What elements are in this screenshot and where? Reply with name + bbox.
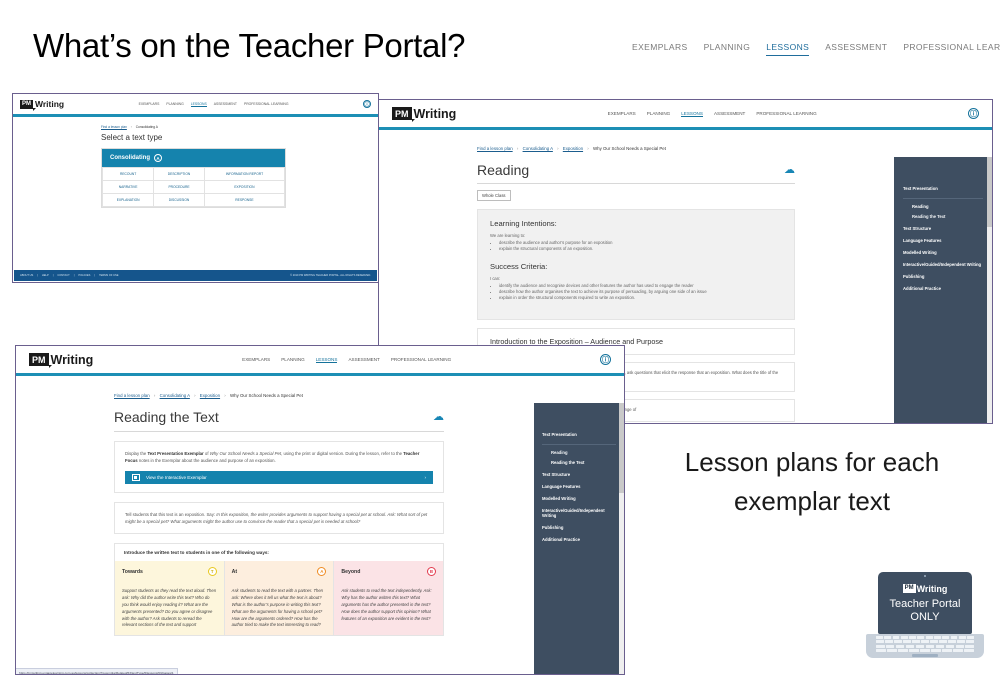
window3-page-title: Reading the Text — [114, 409, 219, 425]
breadcrumb-separator: › — [587, 146, 588, 151]
logo-writing-text: Writing — [35, 99, 64, 109]
slide-top-nav: EXEMPLARS PLANNING LESSONS ASSESSMENT PR… — [632, 42, 1000, 56]
display-exemplar-paragraph: Display the Text Presentation Exemplar o… — [125, 450, 433, 464]
vertical-scrollbar[interactable] — [987, 157, 992, 424]
scrollbar-thumb[interactable] — [619, 403, 624, 493]
column-beyond: Beyond B Ask students to read the text i… — [334, 561, 443, 635]
site-nav: EXEMPLARS PLANNING LESSONS ASSESSMENT PR… — [139, 102, 289, 107]
differentiation-grid: Towards T Support students as they read … — [114, 561, 444, 636]
footer-divider: | — [94, 274, 95, 277]
site-nav-assessment[interactable]: ASSESSMENT — [214, 102, 237, 107]
presentation-icon — [132, 474, 140, 481]
sidebar-item-language-features[interactable]: Language Features — [542, 484, 616, 489]
list-item: explain the structural components of an … — [499, 246, 782, 252]
key-row — [876, 649, 974, 652]
breadcrumb-current: Why Our School Needs a Special Pet — [593, 146, 666, 151]
user-account-icon[interactable]: ⓘ — [968, 108, 979, 119]
learning-intentions-heading: Learning Intentions: — [490, 219, 782, 228]
learning-intentions-list: describe the audience and author’s purpo… — [490, 240, 782, 253]
site-nav-professional-learning[interactable]: PROFESSIONAL LEARNING — [756, 111, 816, 117]
sidebar-item-text-presentation[interactable]: Text Presentation — [542, 432, 616, 437]
pm-writing-logo: PM Writing — [20, 99, 64, 109]
site-nav-planning[interactable]: PLANNING — [281, 357, 305, 363]
footer-link-help[interactable]: HELP — [42, 274, 49, 277]
column-body-at: Ask students to read the text with a par… — [225, 582, 334, 635]
breadcrumb-exposition[interactable]: Exposition — [200, 393, 220, 398]
sidebar-item-additional-practice[interactable]: Additional Practice — [542, 537, 616, 542]
logo-writing-text: Writing — [917, 584, 948, 594]
text-type-level-label: Consolidating — [110, 155, 150, 161]
column-body-text: Ask students to read the text with a par… — [232, 588, 323, 627]
breadcrumb-separator: › — [557, 146, 558, 151]
column-title-beyond: Beyond — [341, 569, 360, 575]
footer-divider: | — [37, 274, 38, 277]
slide-nav-professional-learning[interactable]: PROFESSIONAL LEARNING — [903, 42, 1000, 55]
para-seg: notes in the Exemplar about the audience… — [138, 458, 276, 463]
footer-link-contact[interactable]: CONTACT — [57, 274, 69, 277]
level-badge-a: A — [154, 154, 162, 162]
page-title: What’s on the Teacher Portal? — [33, 27, 465, 65]
sidebar-divider — [903, 198, 983, 199]
para-bold-text-presentation-exemplar: Text Presentation Exemplar — [147, 451, 203, 456]
sidebar-item-text-presentation[interactable]: Text Presentation — [903, 186, 983, 191]
lesson-sidebar: Text Presentation Reading Reading the Te… — [894, 157, 992, 424]
site-nav-exemplars[interactable]: EXEMPLARS — [139, 102, 160, 107]
text-type-cell[interactable]: EXPLANATION — [103, 194, 154, 207]
footer-link-about-us[interactable]: ABOUT US — [20, 274, 33, 277]
column-title-towards: Towards — [122, 569, 143, 575]
site-nav-lessons[interactable]: LESSONS — [316, 357, 338, 363]
sidebar-item-interactive-guided-independent-writing[interactable]: Interactive/Guided/Independent Writing — [903, 262, 983, 267]
success-criteria-lead: I can: — [490, 276, 782, 281]
breadcrumb-separator: › — [224, 393, 225, 398]
footer-divider: | — [74, 274, 75, 277]
text-type-cell[interactable]: DESCRIPTION — [154, 168, 205, 181]
column-body-text: Support students as they read the text a… — [122, 588, 216, 627]
breadcrumb-current: Consolidating A — [136, 125, 158, 129]
footer-divider: | — [53, 274, 54, 277]
key-row — [876, 645, 974, 648]
browser-status-url: https://pmwriting.engagelearning.com.au/… — [16, 668, 178, 675]
column-header: At A — [225, 561, 334, 582]
text-type-cell[interactable]: RESPONSE — [204, 194, 284, 207]
cloud-download-icon[interactable]: ☁ — [433, 412, 444, 423]
sidebar-item-reading-the-text[interactable]: Reading the Text — [551, 460, 616, 465]
window2-page-title: Reading — [477, 162, 529, 178]
pm-writing-logo: PM Writing — [29, 353, 93, 367]
tell-students-card: Tell students that this text is an expos… — [114, 502, 444, 534]
whole-class-chip: Whole Class — [477, 190, 511, 201]
success-criteria-list: identify the audience and recognise devi… — [490, 283, 782, 302]
chevron-right-icon: › — [424, 475, 426, 480]
para-seg: Tell students that this text is an expos… — [125, 512, 216, 517]
slide-nav-exemplars[interactable]: EXEMPLARS — [632, 42, 688, 55]
footer-links: ABOUT US| HELP| CONTACT| POLICIES| TERMS… — [20, 274, 119, 277]
table-row: EXPLANATION DISCUSSION RESPONSE — [103, 194, 285, 207]
view-interactive-exemplar-button[interactable]: View the Interactive Exemplar › — [125, 471, 433, 484]
sidebar-item-modelled-writing[interactable]: Modelled Writing — [903, 250, 983, 255]
table-row: NARRATIVE PROCEDURE EXPOSITION — [103, 181, 285, 194]
badge-towards-icon: T — [208, 567, 217, 576]
site-nav: EXEMPLARS PLANNING LESSONS ASSESSMENT PR… — [608, 111, 817, 117]
column-header: Towards T — [115, 561, 224, 582]
site-nav-lessons[interactable]: LESSONS — [191, 102, 207, 107]
sidebar-item-publishing[interactable]: Publishing — [903, 274, 983, 279]
logo-writing-text: Writing — [51, 353, 94, 367]
window3-page-title-row: Reading the Text ☁ — [114, 409, 444, 432]
window3-content: Find a lesson plan › Consolidating A › E… — [16, 376, 476, 636]
logo-pm-mark: PM — [392, 107, 412, 120]
footer-copyright: © 2019 PM WRITING TEACHER PORTAL. ALL RI… — [290, 274, 371, 277]
display-exemplar-card: Display the Text Presentation Exemplar o… — [114, 441, 444, 493]
breadcrumb-current: Why Our School Needs a Special Pet — [230, 393, 303, 398]
sidebar-item-text-structure[interactable]: Text Structure — [903, 226, 983, 231]
scrollbar-thumb[interactable] — [987, 157, 992, 227]
laptop-keyboard — [876, 636, 974, 653]
column-at: At A Ask students to read the text with … — [225, 561, 335, 635]
text-type-cell[interactable]: NARRATIVE — [103, 181, 154, 194]
breadcrumb-separator: › — [154, 393, 155, 398]
laptop-trackpad — [912, 654, 938, 657]
user-account-icon[interactable]: ⓘ — [600, 354, 611, 365]
site-nav-assessment[interactable]: ASSESSMENT — [348, 357, 379, 363]
footer-link-policies[interactable]: POLICIES — [78, 274, 90, 277]
site-nav-planning[interactable]: PLANNING — [647, 111, 671, 117]
sidebar-item-reading[interactable]: Reading — [912, 204, 983, 209]
vertical-scrollbar[interactable] — [619, 403, 624, 675]
laptop-line-1: Teacher Portal — [890, 598, 961, 610]
sidebar-divider — [542, 444, 616, 445]
cloud-download-icon[interactable]: ☁ — [784, 165, 795, 176]
site-footer: ABOUT US| HELP| CONTACT| POLICIES| TERMS… — [14, 270, 377, 281]
para-seg: , using the print or digital version. Du… — [281, 451, 403, 456]
text-type-cell[interactable]: EXPOSITION — [204, 181, 284, 194]
badge-at-icon: A — [317, 567, 326, 576]
site-nav: EXEMPLARS PLANNING LESSONS ASSESSMENT PR… — [242, 357, 451, 363]
introduce-text-heading: Introduce the written text to students i… — [114, 543, 444, 561]
sidebar-item-modelled-writing[interactable]: Modelled Writing — [542, 496, 616, 501]
breadcrumb-consolidating-a[interactable]: Consolidating A — [160, 393, 190, 398]
cta-left: View the Interactive Exemplar — [132, 474, 207, 481]
window3-page: Find a lesson plan › Consolidating A › E… — [16, 376, 624, 675]
laptop-screen: PM Writing Teacher Portal ONLY — [878, 572, 972, 634]
site-nav-exemplars[interactable]: EXEMPLARS — [608, 111, 636, 117]
footer-link-terms-of-use[interactable]: TERMS OF USE — [99, 274, 118, 277]
site-header: PM Writing EXEMPLARS PLANNING LESSONS AS… — [379, 100, 992, 127]
text-type-card: Consolidating A RECOUNT DESCRIPTION INFO… — [101, 148, 286, 208]
breadcrumb: Find a lesson plan › Consolidating A › E… — [477, 146, 834, 151]
caption-line-2: exemplar text — [636, 482, 988, 521]
list-item: explain in order the structural componen… — [499, 295, 782, 301]
slide-nav-lessons[interactable]: LESSONS — [766, 42, 809, 56]
site-nav-assessment[interactable]: ASSESSMENT — [714, 111, 745, 117]
window1-page-title: Select a text type — [101, 133, 378, 142]
site-header: PM Writing EXEMPLARS PLANNING LESSONS AS… — [16, 346, 624, 373]
logo-pm-mark: PM — [903, 584, 916, 593]
logo-pm-mark: PM — [20, 100, 33, 109]
learning-intentions-lead: We are learning to: — [490, 233, 782, 238]
breadcrumb-consolidating-a[interactable]: Consolidating A — [523, 146, 553, 151]
breadcrumb-exposition[interactable]: Exposition — [563, 146, 583, 151]
slide-caption: Lesson plans for each exemplar text — [636, 443, 988, 521]
site-nav-professional-learning[interactable]: PROFESSIONAL LEARNING — [391, 357, 451, 363]
badge-beyond-icon: B — [427, 567, 436, 576]
window1-body: Find a lesson plan › Consolidating A Sel… — [13, 117, 378, 208]
logo-writing-text: Writing — [414, 107, 457, 121]
text-type-cell[interactable]: INFORMATION REPORT — [204, 168, 284, 181]
column-title-at: At — [232, 569, 237, 575]
site-nav-planning[interactable]: PLANNING — [166, 102, 183, 107]
key-row — [876, 636, 974, 639]
text-type-card-header: Consolidating A — [102, 149, 285, 167]
sidebar-item-reading-the-text[interactable]: Reading the Text — [912, 214, 983, 219]
site-header: PM Writing EXEMPLARS PLANNING LESSONS AS… — [13, 94, 378, 114]
sidebar-item-reading[interactable]: Reading — [551, 450, 616, 455]
breadcrumb-separator: › — [194, 393, 195, 398]
sidebar-item-text-structure[interactable]: Text Structure — [542, 472, 616, 477]
breadcrumb-separator: › — [131, 125, 132, 129]
sidebar-item-language-features[interactable]: Language Features — [903, 238, 983, 243]
text-type-cell[interactable]: DISCUSSION — [154, 194, 205, 207]
laptop-logo: PM Writing — [903, 584, 948, 594]
breadcrumb-find-a-lesson-plan[interactable]: Find a lesson plan — [114, 393, 150, 398]
sidebar-item-publishing[interactable]: Publishing — [542, 525, 616, 530]
breadcrumb-separator: › — [517, 146, 518, 151]
browser-window-select-text-type: PM Writing EXEMPLARS PLANNING LESSONS AS… — [12, 93, 379, 283]
text-type-table: RECOUNT DESCRIPTION INFORMATION REPORT N… — [102, 167, 285, 207]
sidebar-item-interactive-guided-independent-writing[interactable]: Interactive/Guided/Independent Writing — [542, 508, 616, 518]
lesson-sidebar: Text Presentation Reading Reading the Te… — [534, 403, 624, 675]
breadcrumb-find-a-lesson-plan[interactable]: Find a lesson plan — [101, 125, 127, 129]
column-header: Beyond B — [334, 561, 443, 582]
laptop-line-2: ONLY — [910, 611, 939, 623]
column-body-beyond: Ask students to read the text independen… — [334, 582, 443, 628]
text-type-cell[interactable]: RECOUNT — [103, 168, 154, 181]
slide-nav-planning[interactable]: PLANNING — [704, 42, 751, 55]
cta-label: View the Interactive Exemplar — [146, 475, 207, 480]
sidebar-item-additional-practice[interactable]: Additional Practice — [903, 286, 983, 291]
site-nav-professional-learning[interactable]: PROFESSIONAL LEARNING — [244, 102, 289, 107]
success-criteria-heading: Success Criteria: — [490, 262, 782, 271]
site-nav-lessons[interactable]: LESSONS — [681, 111, 703, 117]
logo-pm-mark: PM — [29, 353, 49, 366]
webcam-icon — [924, 575, 926, 577]
learning-panel: Learning Intentions: We are learning to:… — [477, 209, 795, 320]
para-seg: Display the — [125, 451, 147, 456]
site-nav-exemplars[interactable]: EXEMPLARS — [242, 357, 270, 363]
user-account-icon[interactable]: ⓘ — [363, 100, 371, 108]
browser-window-reading-the-text: PM Writing EXEMPLARS PLANNING LESSONS AS… — [15, 345, 625, 675]
text-type-cell[interactable]: PROCEDURE — [154, 181, 205, 194]
window2-page-title-row: Reading ☁ — [477, 162, 795, 184]
table-row: RECOUNT DESCRIPTION INFORMATION REPORT — [103, 168, 285, 181]
key-row — [876, 640, 974, 643]
breadcrumb: Find a lesson plan › Consolidating A › E… — [114, 393, 476, 398]
breadcrumb-find-a-lesson-plan[interactable]: Find a lesson plan — [477, 146, 513, 151]
caption-line-1: Lesson plans for each — [636, 443, 988, 482]
slide-nav-assessment[interactable]: ASSESSMENT — [825, 42, 887, 55]
column-body-text: Ask students to read the text independen… — [341, 588, 431, 620]
tell-students-paragraph: Tell students that this text is an expos… — [125, 511, 433, 525]
para-italic-title: Why Our School Needs a Special Pet — [210, 451, 281, 456]
laptop-graphic: PM Writing Teacher Portal ONLY — [866, 568, 984, 664]
column-towards: Towards T Support students as they read … — [115, 561, 225, 635]
breadcrumb: Find a lesson plan › Consolidating A — [101, 125, 378, 129]
column-body-towards: Support students as they read the text a… — [115, 582, 224, 635]
pm-writing-logo: PM Writing — [392, 107, 456, 121]
